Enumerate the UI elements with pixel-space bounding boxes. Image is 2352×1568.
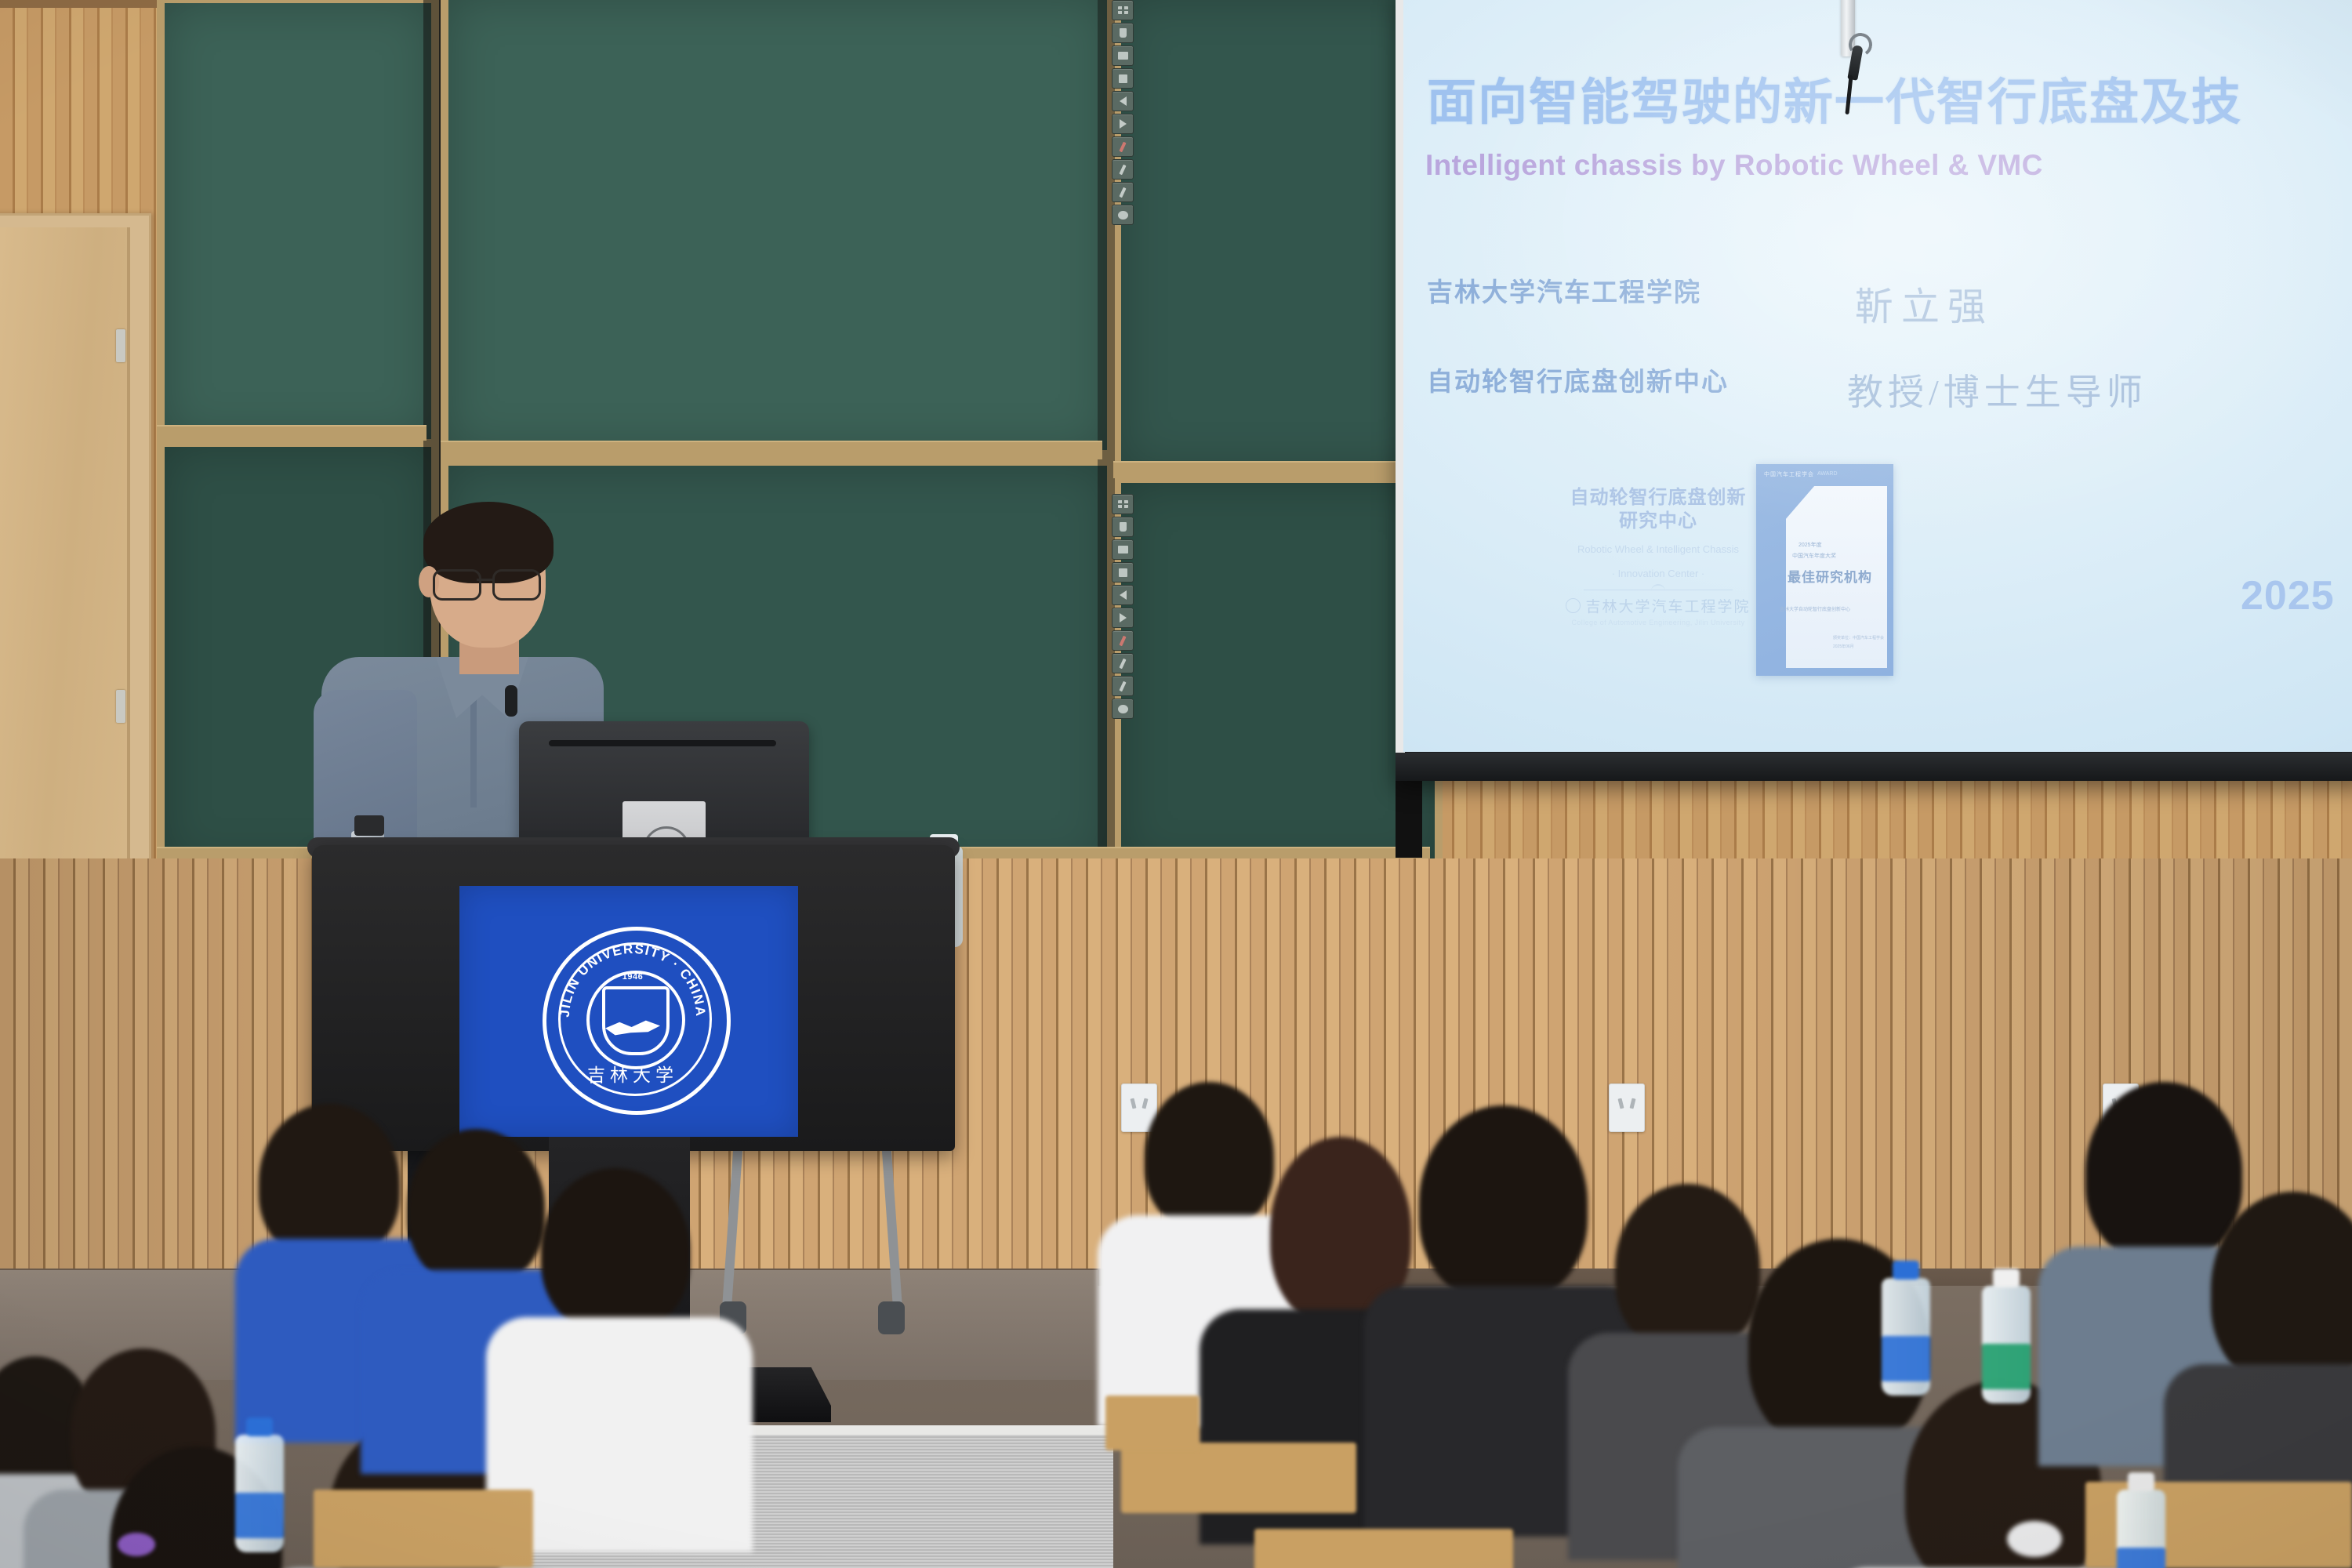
board-button-save-icon-2[interactable] [1112, 539, 1134, 560]
logo-en-line-2: · Innovation Center · [1560, 567, 1756, 582]
water-bottle [1882, 1278, 1930, 1396]
logo-en-line-1: Robotic Wheel & Intelligent Chassis [1560, 543, 1756, 557]
slide-content: 面向智能驾驶的新一代智行底盘及技 Intelligent chassis by … [1403, 0, 2352, 752]
board-button-next-icon[interactable] [1112, 114, 1134, 134]
certificate-header-right: AWARD [1817, 471, 1838, 477]
audience-head [259, 1104, 400, 1261]
certificate-recipient: 吉林大学自动轮智行底盘创新中心 [1780, 605, 1850, 612]
audience-head [408, 1129, 545, 1286]
board-button-grid-icon-2[interactable] [1112, 494, 1134, 514]
water-bottle [2117, 1490, 2165, 1568]
board-panel-right-top [1113, 0, 1443, 477]
logo-school-cn: 吉林大学汽车工程学院 [1585, 595, 1750, 616]
logo-cn-line-1: 自动轮智行底盘创新 [1560, 486, 1756, 510]
logo-school-line: 吉林大学汽车工程学院 [1560, 595, 1756, 616]
bottle-label [235, 1493, 284, 1538]
chalk-rail-left [157, 425, 426, 441]
water-bottle [235, 1435, 284, 1552]
water-bottle [1982, 1286, 2031, 1403]
slide-presenter-role: 教授/博士生导师 [1847, 364, 2147, 416]
board-button-prev-icon-2[interactable] [1112, 585, 1134, 605]
logo-divider [1584, 590, 1733, 590]
bottle-label [1882, 1336, 1930, 1381]
audience-head [2085, 1082, 2242, 1262]
projection-screen: 面向智能驾驶的新一代智行底盘及技 Intelligent chassis by … [1396, 0, 2352, 781]
certificate-line-2: 中国汽车年度大奖 [1792, 552, 1836, 560]
eyeglasses-icon [433, 569, 547, 596]
speaker-shirt-placket [470, 690, 477, 808]
board-control-strip-lower[interactable] [1112, 494, 1132, 719]
board-button-next-icon-2[interactable] [1112, 608, 1134, 628]
lecture-hall-photo: 面向智能驾驶的新一代智行底盘及技 Intelligent chassis by … [0, 0, 2352, 1568]
door-hinge-lower [116, 690, 125, 723]
board-button-pen-icon-2[interactable] [1112, 676, 1134, 696]
bottle-label [1982, 1344, 2031, 1389]
board-panel-center-top [441, 0, 1115, 458]
board-button-trash-icon-2[interactable] [1112, 517, 1134, 537]
slide-title: 面向智能驾驶的新一代智行底盘及技 [1427, 63, 2352, 134]
bottle-label [2117, 1548, 2165, 1568]
hair-scrunchie [2007, 1521, 2062, 1557]
board-button-grid-icon[interactable] [1112, 0, 1134, 20]
board-button-save-icon[interactable] [1112, 45, 1134, 66]
monitor-vent [549, 740, 776, 746]
bottle-cap [1893, 1261, 1919, 1279]
seal-outer-text: JILIN UNIVERSITY · CHINA [557, 942, 708, 1018]
audience-head [1419, 1105, 1588, 1301]
svg-text:JILIN UNIVERSITY · CHINA: JILIN UNIVERSITY · CHINA [557, 942, 708, 1018]
bottle-cap [246, 1417, 273, 1436]
wristband [118, 1533, 155, 1556]
slide-organization-line-1: 吉林大学汽车工程学院 [1427, 271, 1701, 309]
certificate-footer-1: 颁奖单位：中国汽车工程学会 [1833, 635, 1884, 641]
screen-bottom-bar [1396, 753, 2352, 781]
board-button-red-pen-icon[interactable] [1112, 136, 1134, 157]
certificate-line-1: 2025年度 [1798, 541, 1822, 549]
board-button-prev-icon[interactable] [1112, 91, 1134, 111]
desk-surface-left [1121, 1443, 1356, 1513]
board-panel-far-left-top [157, 0, 439, 447]
slide-organization-line-2: 自动轮智行底盘创新中心 [1427, 361, 1729, 398]
bottle-cap [2128, 1472, 2154, 1491]
slide-subtitle: Intelligent chassis by Robotic Wheel & V… [1425, 149, 2352, 182]
certificate-footer-2: 2025年06月 [1833, 644, 1854, 649]
door-hinge-upper [116, 329, 125, 362]
board-button-eraser-icon-2[interactable] [1112, 699, 1134, 719]
logo-cn-line-2: 研究中心 [1560, 510, 1756, 533]
audience-head [1615, 1184, 1760, 1352]
projected-slide: 面向智能驾驶的新一代智行底盘及技 Intelligent chassis by … [1403, 0, 2352, 752]
board-button-trash-icon[interactable] [1112, 23, 1134, 43]
chalk-rail-center [441, 441, 1102, 459]
desk-surface-far-left [314, 1490, 533, 1568]
jlu-seal-icon [1566, 598, 1581, 613]
spray-bottle-nozzle [354, 815, 384, 836]
board-button-eraser-icon[interactable] [1112, 205, 1134, 225]
slide-year: 2025 [2241, 572, 2335, 619]
award-certificate-thumbnail: 中国汽车工程学会 AWARD 2025年度 中国汽车年度大奖 最佳研究机构 吉林… [1756, 464, 1893, 676]
logo-school-en: College of Automotive Engineering, Jilin… [1560, 619, 1756, 626]
research-center-logo: 自动轮智行底盘创新 研究中心 Robotic Wheel & Intellige… [1560, 486, 1756, 626]
chalk-rail-right [1113, 461, 1430, 478]
certificate-header-left: 中国汽车工程学会 [1764, 470, 1814, 478]
chair-back-left [1105, 1396, 1200, 1450]
bottle-cap [1993, 1269, 2020, 1287]
board-button-pen-icon[interactable] [1112, 182, 1134, 202]
board-control-strip-upper[interactable] [1112, 0, 1132, 225]
board-button-white-pen-icon[interactable] [1112, 159, 1134, 180]
board-panel-right-bottom [1113, 475, 1443, 875]
board-button-white-pen-icon-2[interactable] [1112, 653, 1134, 673]
slide-presenter-name: 靳立强 [1855, 276, 1994, 332]
board-button-switch-icon-2[interactable] [1112, 562, 1134, 583]
chair-back-center [1254, 1529, 1513, 1568]
audience-head [1145, 1082, 1274, 1231]
certificate-headline: 最佳研究机构 [1788, 566, 1872, 586]
lavalier-microphone-icon [505, 685, 517, 717]
board-button-switch-icon[interactable] [1112, 68, 1134, 89]
board-button-red-pen-icon-2[interactable] [1112, 630, 1134, 651]
audience-head [541, 1168, 690, 1333]
